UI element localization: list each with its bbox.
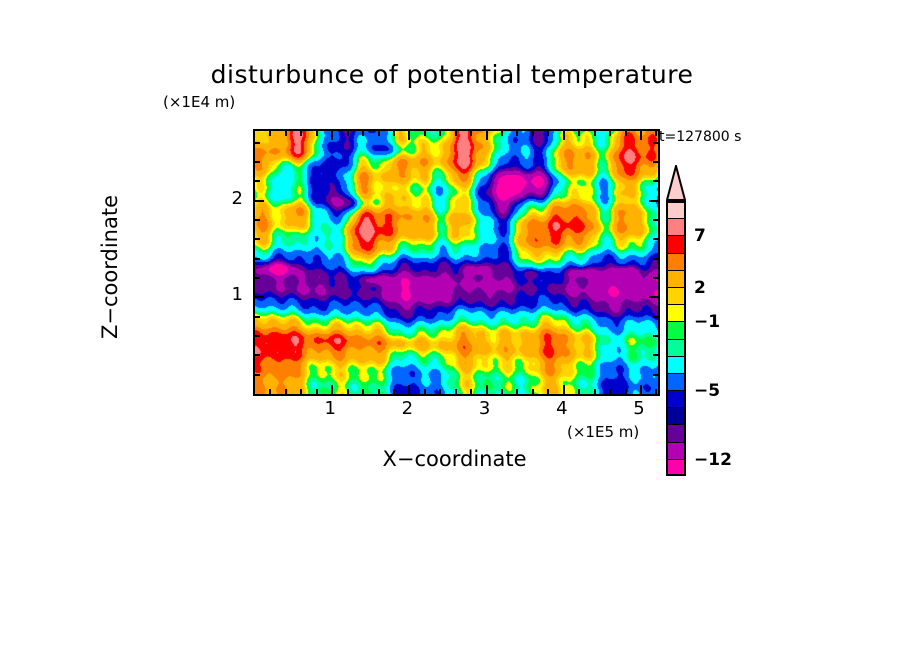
colorbar-band bbox=[666, 407, 686, 424]
colorbar-band bbox=[666, 287, 686, 304]
colorbar-arrow-icon bbox=[666, 165, 686, 201]
y-tick bbox=[255, 277, 260, 279]
x-tick bbox=[578, 389, 580, 394]
x-tick-top bbox=[269, 131, 271, 136]
y-tick-right bbox=[653, 238, 658, 240]
colorbar-band bbox=[666, 390, 686, 407]
x-tick bbox=[331, 385, 333, 394]
x-tick-top bbox=[362, 131, 364, 136]
y-tick bbox=[255, 296, 264, 298]
plot-area bbox=[253, 129, 660, 396]
y-tick-right bbox=[653, 335, 658, 337]
colorbar-segments bbox=[666, 201, 686, 476]
x-tick-top bbox=[486, 131, 488, 140]
x-tick bbox=[347, 389, 349, 394]
x-tick bbox=[532, 389, 534, 394]
y-tick bbox=[255, 219, 260, 221]
x-axis-unit-label: (×1E5 m) bbox=[567, 423, 639, 441]
x-tick bbox=[625, 389, 627, 394]
x-tick bbox=[563, 385, 565, 394]
colorbar-tick-label: −1 bbox=[694, 312, 720, 332]
x-tick bbox=[455, 389, 457, 394]
y-axis-label: Z−coordinate bbox=[98, 117, 122, 417]
x-tick-top bbox=[501, 131, 503, 136]
colorbar-band bbox=[666, 459, 686, 476]
x-tick-top bbox=[532, 131, 534, 136]
x-tick-top bbox=[300, 131, 302, 136]
y-tick-right bbox=[649, 200, 658, 202]
x-tick bbox=[393, 389, 395, 394]
y-tick-right bbox=[649, 296, 658, 298]
x-tick-label: 4 bbox=[547, 398, 577, 419]
y-tick-right bbox=[653, 277, 658, 279]
colorbar-band bbox=[666, 442, 686, 459]
x-tick-top bbox=[378, 131, 380, 136]
y-tick bbox=[255, 180, 260, 182]
colorbar bbox=[666, 165, 686, 476]
x-tick bbox=[439, 389, 441, 394]
colorbar-band bbox=[666, 339, 686, 356]
x-tick bbox=[501, 389, 503, 394]
y-tick-right bbox=[653, 161, 658, 163]
x-tick-top bbox=[408, 131, 410, 140]
colorbar-band bbox=[666, 373, 686, 390]
y-tick-right bbox=[653, 142, 658, 144]
x-tick bbox=[269, 389, 271, 394]
z-axis-unit-label: (×1E4 m) bbox=[163, 93, 235, 111]
y-tick-right bbox=[653, 180, 658, 182]
x-tick bbox=[378, 389, 380, 394]
x-tick bbox=[594, 389, 596, 394]
x-tick-top bbox=[455, 131, 457, 136]
x-tick bbox=[609, 389, 611, 394]
colorbar-band bbox=[666, 201, 686, 218]
x-tick-top bbox=[347, 131, 349, 136]
y-tick bbox=[255, 354, 260, 356]
x-tick-label: 3 bbox=[470, 398, 500, 419]
colorbar-band bbox=[666, 253, 686, 270]
y-tick bbox=[255, 142, 260, 144]
x-tick bbox=[640, 385, 642, 394]
x-tick bbox=[300, 389, 302, 394]
x-tick-label: 5 bbox=[624, 398, 654, 419]
y-tick-right bbox=[653, 219, 658, 221]
y-tick bbox=[255, 258, 260, 260]
y-tick bbox=[255, 238, 260, 240]
x-tick bbox=[470, 389, 472, 394]
x-tick-label: 1 bbox=[315, 398, 345, 419]
x-tick bbox=[408, 385, 410, 394]
x-tick-top bbox=[625, 131, 627, 136]
colorbar-band bbox=[666, 218, 686, 235]
x-tick bbox=[285, 389, 287, 394]
x-tick-top bbox=[331, 131, 333, 140]
x-tick-top bbox=[563, 131, 565, 140]
colorbar-band bbox=[666, 356, 686, 373]
y-tick-right bbox=[653, 374, 658, 376]
colorbar-band bbox=[666, 235, 686, 252]
colorbar-band bbox=[666, 424, 686, 441]
colorbar-tick-label: 7 bbox=[694, 226, 706, 246]
x-tick bbox=[316, 389, 318, 394]
y-tick bbox=[255, 200, 264, 202]
time-annotation: t=127800 s bbox=[659, 129, 741, 145]
y-tick-right bbox=[653, 354, 658, 356]
x-tick-top bbox=[609, 131, 611, 136]
y-tick bbox=[255, 374, 260, 376]
chart-page: disturbunce of potential temperature (×1… bbox=[0, 0, 904, 654]
colorbar-tick-label: 2 bbox=[694, 278, 706, 298]
x-tick-top bbox=[640, 131, 642, 140]
x-tick-top bbox=[424, 131, 426, 136]
x-tick-top bbox=[594, 131, 596, 136]
page-title: disturbunce of potential temperature bbox=[0, 60, 904, 89]
y-tick-label: 1 bbox=[213, 284, 243, 305]
x-tick bbox=[424, 389, 426, 394]
x-tick-top bbox=[655, 131, 657, 136]
colorbar-band bbox=[666, 270, 686, 287]
x-tick bbox=[655, 389, 657, 394]
colorbar-band bbox=[666, 321, 686, 338]
y-tick bbox=[255, 335, 260, 337]
x-tick bbox=[516, 389, 518, 394]
x-tick-top bbox=[470, 131, 472, 136]
contour-field bbox=[255, 131, 658, 394]
x-tick-top bbox=[547, 131, 549, 136]
x-tick bbox=[362, 389, 364, 394]
y-tick bbox=[255, 161, 260, 163]
colorbar-tick-label: −12 bbox=[694, 450, 732, 470]
x-tick-top bbox=[285, 131, 287, 136]
x-tick-label: 2 bbox=[392, 398, 422, 419]
x-tick-top bbox=[578, 131, 580, 136]
x-tick bbox=[486, 385, 488, 394]
y-tick-right bbox=[653, 258, 658, 260]
x-tick-top bbox=[516, 131, 518, 136]
x-tick-top bbox=[393, 131, 395, 136]
x-tick-top bbox=[439, 131, 441, 136]
x-tick-top bbox=[316, 131, 318, 136]
y-tick-label: 2 bbox=[213, 188, 243, 209]
x-axis-label: X−coordinate bbox=[253, 447, 656, 471]
colorbar-band bbox=[666, 304, 686, 321]
y-tick bbox=[255, 316, 260, 318]
colorbar-tick-label: −5 bbox=[694, 381, 720, 401]
x-tick bbox=[547, 389, 549, 394]
y-tick-right bbox=[653, 316, 658, 318]
